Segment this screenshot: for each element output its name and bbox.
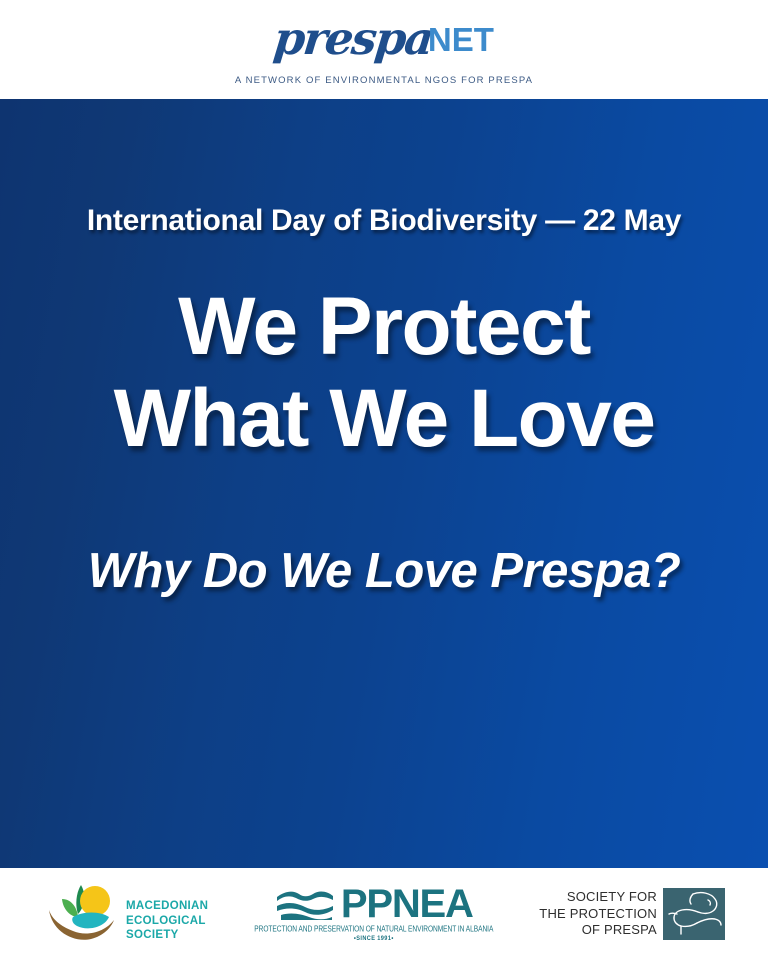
partner-logo-macedonian-ecological-society: MACEDONIAN ECOLOGICAL SOCIETY [43,883,208,945]
hero-headline-line-2: What We Love [0,373,768,465]
ppnea-since-label: •SINCE 1991• [354,935,394,942]
hero-content: International Day of Biodiversity — 22 M… [0,99,768,599]
ppnea-row: PPNEA [275,886,473,922]
spp-name-line-1: SOCIETY FOR [539,889,657,906]
hero-question: Why Do We Love Prespa? [0,543,768,599]
pelican-icon [663,888,725,940]
brand-tagline: A NETWORK OF ENVIRONMENTAL NGOS FOR PRES… [235,75,533,86]
hero-panel: International Day of Biodiversity — 22 M… [0,99,768,868]
partner-logo-society-protection-prespa: SOCIETY FOR THE PROTECTION OF PRESPA [539,888,725,940]
mes-name-line-2: ECOLOGICAL [126,914,208,928]
hero-eyebrow: International Day of Biodiversity — 22 M… [0,204,768,237]
hero-headline: We Protect What We Love [0,281,768,465]
footer-partner-logos: MACEDONIAN ECOLOGICAL SOCIETY PPNEA PROT… [0,868,768,960]
mes-name-line-3: SOCIETY [126,928,208,942]
brand-net-word: NET [428,23,494,56]
partner-logo-ppnea: PPNEA PROTECTION AND PRESERVATION OF NAT… [254,886,493,942]
mes-name-line-1: MACEDONIAN [126,899,208,913]
mes-emblem-icon [43,883,121,945]
ppnea-acronym: PPNEA [341,886,473,922]
brand-script-word: prespa [272,16,434,61]
spp-name: SOCIETY FOR THE PROTECTION OF PRESPA [539,889,657,940]
spp-name-line-2: THE PROTECTION [539,906,657,923]
spp-name-line-3: OF PRESPA [539,922,657,939]
mes-name: MACEDONIAN ECOLOGICAL SOCIETY [126,899,208,942]
ppnea-subtitle: PROTECTION AND PRESERVATION OF NATURAL E… [254,925,493,934]
ppnea-landscape-icon [275,887,335,921]
prespanet-logo: prespa NET [274,13,494,65]
hero-headline-line-1: We Protect [0,281,768,373]
header-brand-band: prespa NET A NETWORK OF ENVIRONMENTAL NG… [0,0,768,99]
